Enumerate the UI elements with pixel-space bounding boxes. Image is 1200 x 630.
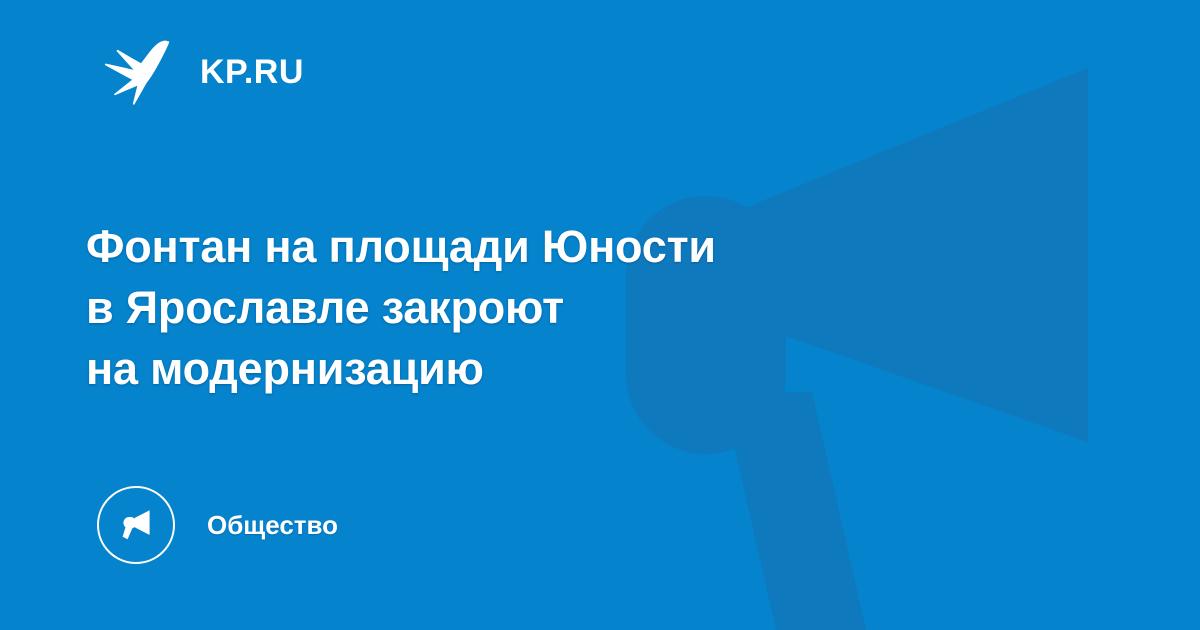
brand-logo[interactable]: KP.RU: [104, 36, 304, 108]
megaphone-icon: [116, 505, 156, 545]
category-icon-ring: [97, 486, 175, 564]
headline: Фонтан на площади Юности в Ярославле зак…: [86, 216, 986, 399]
headline-line-1: Фонтан на площади Юности: [86, 216, 986, 277]
brand-wordmark: KP.RU: [200, 55, 304, 89]
swallow-bird-icon: [104, 39, 178, 105]
headline-line-2: в Ярославле закроют: [86, 277, 986, 338]
share-card: KP.RU Фонтан на площади Юности в Ярослав…: [0, 0, 1200, 630]
category-label: Общество: [207, 512, 338, 538]
headline-line-3: на модернизацию: [86, 338, 986, 399]
category-badge[interactable]: Общество: [97, 486, 338, 564]
